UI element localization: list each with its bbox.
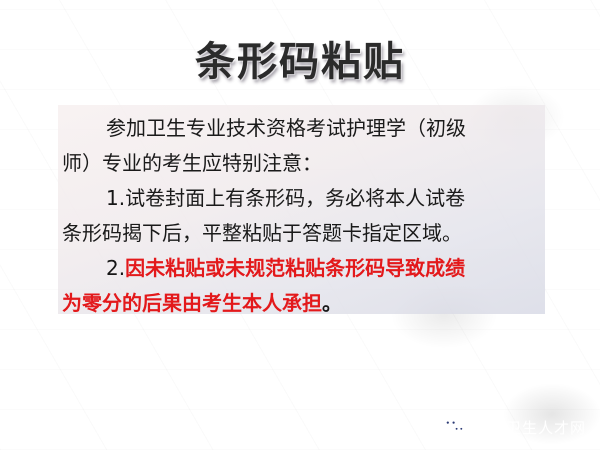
list-number: 1. [106, 186, 125, 210]
paragraph-text: 师）专业的考生应特别注意： [62, 151, 322, 175]
watermark-label: 中国卫生人才网 [474, 417, 586, 438]
warning-text: 因未粘贴或未规范粘贴条形码导致成绩 [125, 256, 465, 280]
paragraph-intro-line-2: 师）专业的考生应特别注意： [62, 146, 535, 181]
slide-title: 条形码粘贴 [0, 40, 600, 84]
paragraph-text: 条形码揭下后，平整粘贴于答题卡指定区域。 [62, 221, 462, 245]
paragraph-intro-line-1: 参加卫生专业技术资格考试护理学（初级 [62, 111, 535, 146]
list-number: 2. [106, 256, 125, 280]
paragraph-item2-line-1: 2.因未粘贴或未规范粘贴条形码导致成绩 [62, 251, 535, 286]
sentence-period: 。 [322, 291, 342, 315]
paragraph-text: 参加卫生专业技术资格考试护理学（初级 [106, 116, 466, 140]
watermark-branding: 中国卫生人才网 [441, 416, 586, 438]
presentation-slide: 条形码粘贴 参加卫生专业技术资格考试护理学（初级 师）专业的考生应特别注意： 1… [0, 0, 600, 450]
paragraph-item2-line-2: 为零分的后果由考生本人承担。 [62, 286, 535, 321]
content-panel: 参加卫生专业技术资格考试护理学（初级 师）专业的考生应特别注意： 1.试卷封面上… [58, 105, 545, 314]
warning-text: 为零分的后果由考生本人承担 [62, 291, 322, 315]
paragraph-text: 试卷封面上有条形码，务必将本人试卷 [125, 186, 465, 210]
paragraph-item1-line-1: 1.试卷封面上有条形码，务必将本人试卷 [62, 181, 535, 216]
paragraph-item1-line-2: 条形码揭下后，平整粘贴于答题卡指定区域。 [62, 216, 535, 251]
wechat-icon [441, 416, 467, 438]
